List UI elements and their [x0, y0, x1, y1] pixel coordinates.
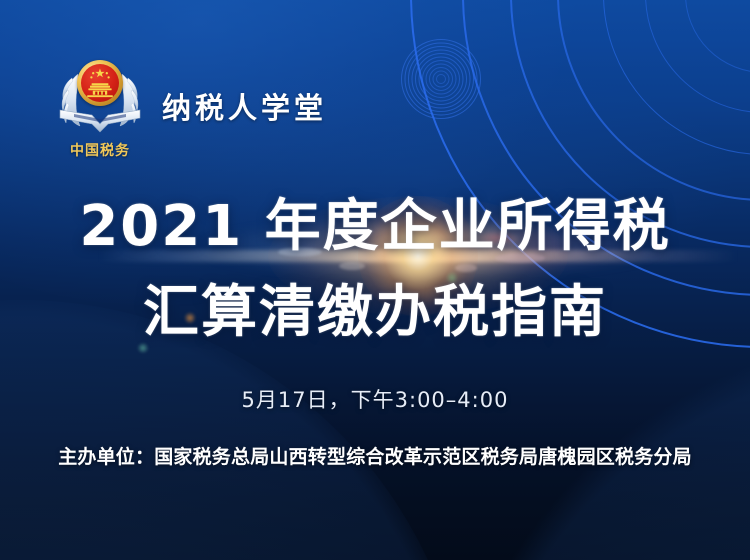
title-line-1: 2021 年度企业所得税: [0, 192, 750, 262]
brand-header: 中国税务 纳税人学堂: [52, 52, 327, 160]
emblem-red-disc: [81, 64, 119, 102]
china-taxation-emblem-icon: 中国税务: [52, 52, 148, 160]
poster-title: 2021 年度企业所得税 汇算清缴办税指南: [0, 192, 750, 348]
concentric-rings-small-icon: [402, 40, 480, 118]
event-schedule: 5月17日，下午3:00–4:00: [0, 384, 750, 414]
brand-title: 纳税人学堂: [162, 85, 327, 127]
title-line-2: 汇算清缴办税指南: [0, 278, 750, 348]
event-organizer: 主办单位：国家税务总局山西转型综合改革示范区税务局唐槐园区税务分局: [0, 442, 750, 469]
tiananmen-and-stars-icon: [81, 64, 119, 102]
emblem-caption: 中国税务: [70, 140, 130, 160]
poster-canvas: 中国税务 纳税人学堂 2021 年度企业所得税 汇算清缴办税指南 5月17日，下…: [0, 0, 750, 560]
